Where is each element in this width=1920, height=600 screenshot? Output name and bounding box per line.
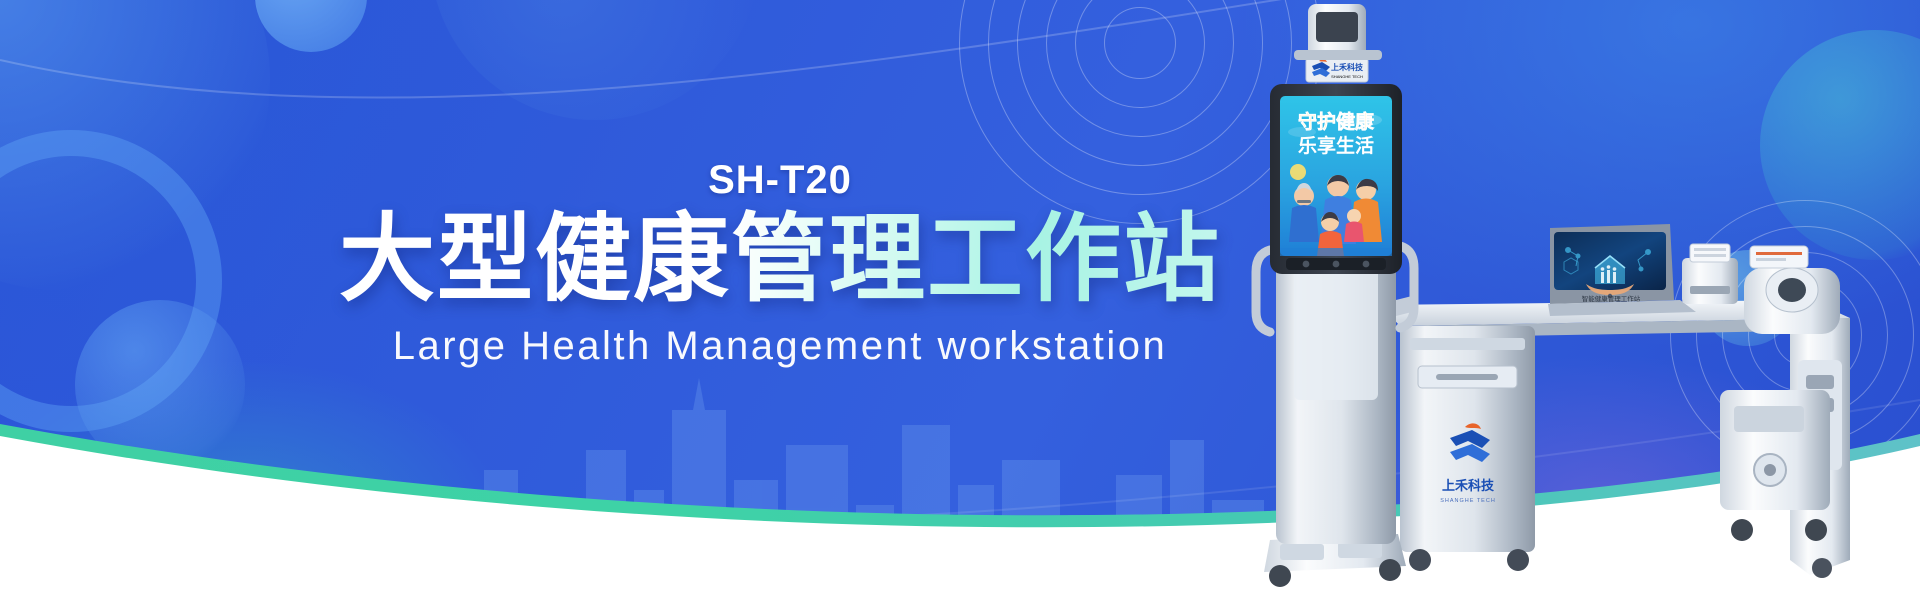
kiosk-ad-headline-1: 守护健康 <box>1298 110 1375 133</box>
product-model-code: SH-T20 <box>300 160 1260 200</box>
desk-printer <box>1682 244 1738 304</box>
kiosk-ad-headline-2: 乐享生活 <box>1298 134 1374 157</box>
kiosk-brand-sub: SHANGHE TECH <box>1331 74 1363 79</box>
health-workstation-device: 上禾科技 SHANGHE TECH <box>1250 0 1920 600</box>
kiosk-column: 守护健康 乐享生活 <box>1256 4 1414 587</box>
product-illustration: 上禾科技 SHANGHE TECH <box>1250 0 1920 600</box>
blood-pressure-unit <box>1744 246 1840 334</box>
kiosk-brand-label: 上禾科技 <box>1331 62 1364 72</box>
product-banner: SH-T20 大型健康管理工作站 Large Health Management… <box>0 0 1920 600</box>
banner-copy: SH-T20 大型健康管理工作站 Large Health Management… <box>300 160 1260 366</box>
page-title: 大型健康管理工作站 <box>300 208 1260 312</box>
desk-monitor: 智能健康管理工作站 <box>1548 224 1696 316</box>
cabinet-brand-sub: SHANGHE TECH <box>1440 498 1496 504</box>
page-subtitle: Large Health Management workstation <box>300 326 1260 366</box>
cabinet-brand-label: 上禾科技 <box>1442 478 1495 493</box>
